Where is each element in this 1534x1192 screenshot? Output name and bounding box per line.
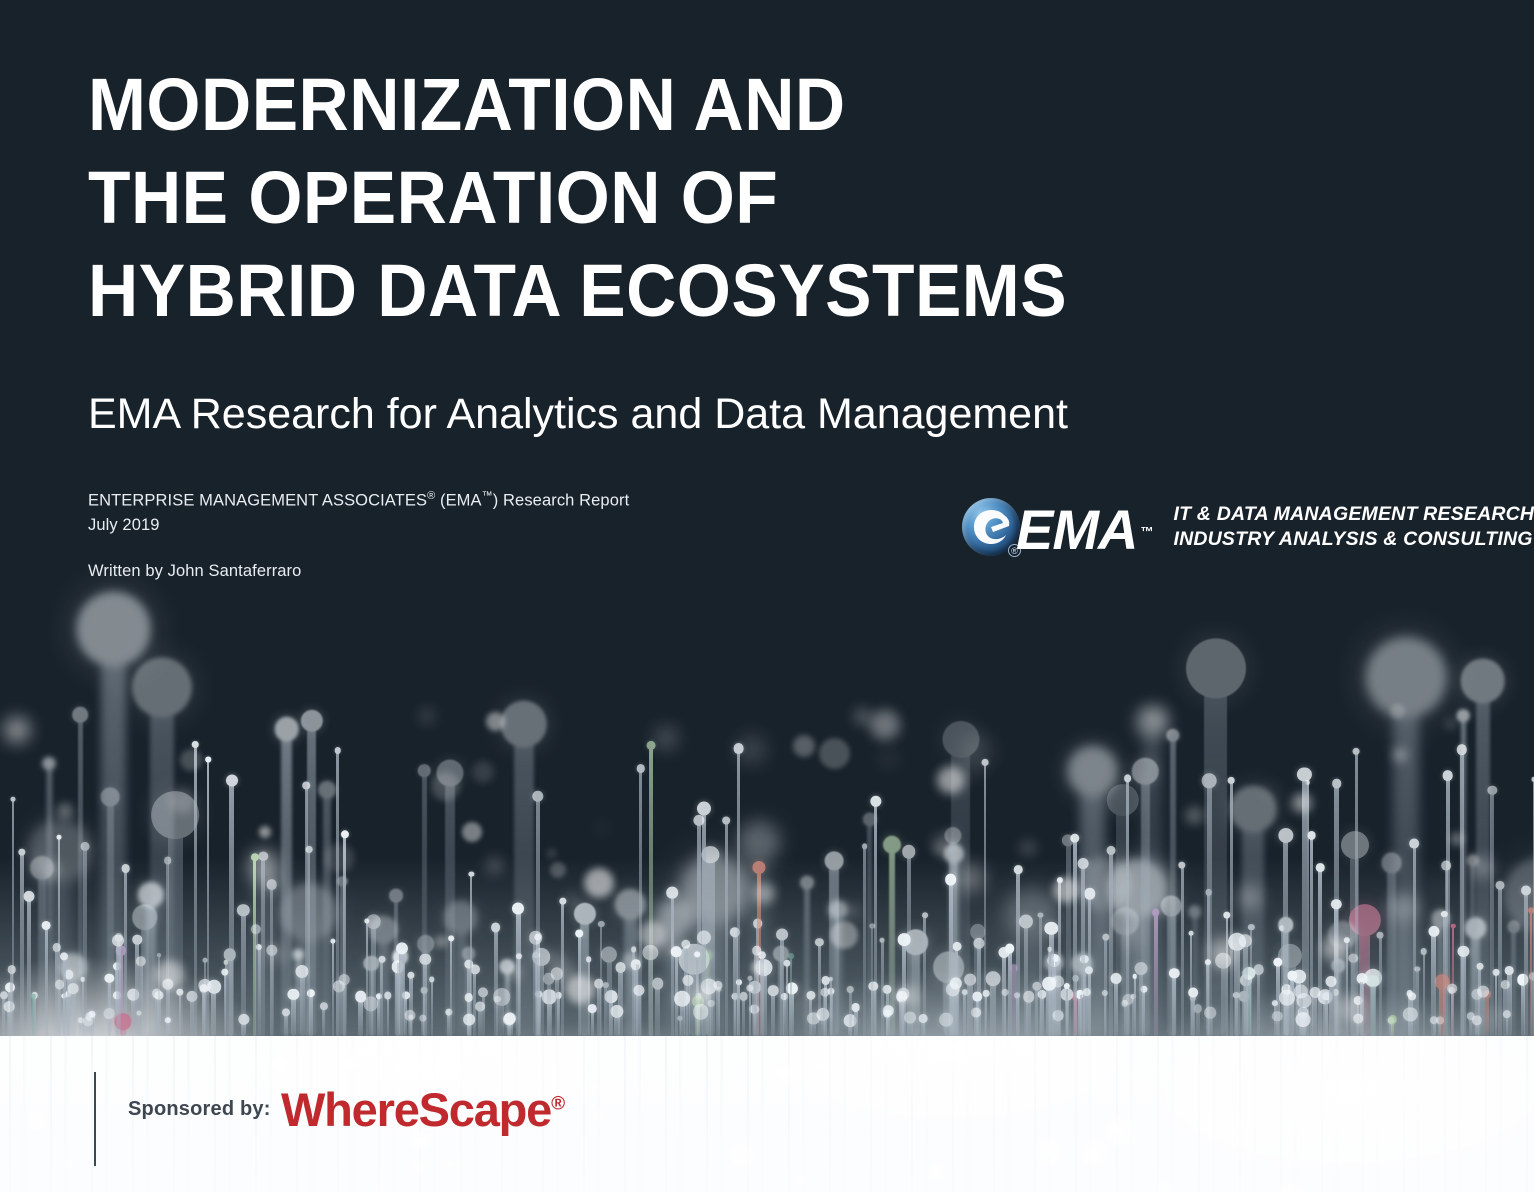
lollipop-bar bbox=[1423, 951, 1425, 1036]
lollipop-cap bbox=[1488, 786, 1497, 795]
lollipop-cap bbox=[788, 953, 794, 959]
lollipop-bar bbox=[63, 956, 66, 1036]
ema-tagline-line-2: INDUSTRY ANALYSIS & CONSULTING bbox=[1173, 527, 1534, 552]
lollipop-cap bbox=[341, 830, 349, 838]
lollipop-bar bbox=[58, 984, 61, 1036]
lollipop-bar bbox=[1046, 983, 1052, 1036]
lollipop-bar bbox=[387, 995, 390, 1036]
lollipop-cap bbox=[1077, 858, 1088, 869]
lollipop-cap bbox=[1441, 861, 1451, 871]
ema-tagline: IT & DATA MANAGEMENT RESEARCH, INDUSTRY … bbox=[1173, 502, 1534, 552]
lollipop-cap bbox=[1377, 932, 1384, 939]
ema-wordmark-text: EMA bbox=[1016, 498, 1137, 561]
lollipop-cap bbox=[1295, 1012, 1310, 1027]
sponsored-by-label: Sponsored by: bbox=[128, 1098, 271, 1121]
lollipop-cap bbox=[121, 864, 130, 873]
lollipop-cap bbox=[776, 929, 788, 941]
lollipop-cap bbox=[429, 976, 435, 982]
lollipop-cap bbox=[716, 987, 721, 992]
lollipop-bar bbox=[1451, 988, 1454, 1036]
lollipop-bar bbox=[754, 950, 759, 1036]
lollipop-bar bbox=[450, 938, 453, 1036]
lollipop-bar bbox=[1408, 1014, 1413, 1036]
lollipop-cap bbox=[463, 1014, 475, 1026]
lollipop-bar bbox=[771, 990, 775, 1036]
lollipop-cap bbox=[1442, 770, 1453, 781]
lollipop-bar bbox=[496, 999, 499, 1036]
lollipop-cap bbox=[237, 904, 249, 916]
lollipop-cap bbox=[1204, 1007, 1216, 1019]
lollipop-cap bbox=[806, 991, 815, 1000]
lollipop-bar bbox=[1276, 1016, 1279, 1036]
report-metadata: ENTERPRISE MANAGEMENT ASSOCIATES® (EMA™)… bbox=[88, 484, 629, 583]
lollipop-bar bbox=[1469, 1016, 1472, 1036]
lollipop-bar bbox=[1356, 1018, 1359, 1036]
lollipop-cap bbox=[945, 874, 957, 886]
lollipop-cap bbox=[999, 947, 1010, 958]
lollipop-cap bbox=[23, 891, 34, 902]
lollipop-cap bbox=[752, 946, 762, 956]
lollipop-cap bbox=[512, 902, 524, 914]
lollipop-bar bbox=[1439, 981, 1445, 1036]
lollipop-cap bbox=[1344, 937, 1350, 943]
lollipop-bar bbox=[1026, 996, 1031, 1036]
lollipop-bar bbox=[1346, 940, 1348, 1036]
lollipop-cap bbox=[396, 942, 408, 954]
lollipop-cap bbox=[1521, 885, 1531, 895]
lollipop-cap bbox=[1505, 966, 1514, 975]
lollipop-cap bbox=[60, 952, 68, 960]
lollipop-bar bbox=[1039, 915, 1041, 1036]
lollipop-bar bbox=[1318, 867, 1321, 1036]
lollipop-cap bbox=[1307, 831, 1316, 840]
lollipop-bar bbox=[907, 1017, 913, 1036]
publisher-suffix: ) Research Report bbox=[493, 492, 630, 510]
lollipop-cap bbox=[708, 1000, 715, 1007]
lollipop-cap bbox=[1202, 773, 1217, 788]
report-date: July 2019 bbox=[88, 513, 629, 537]
lollipop-bar bbox=[1284, 997, 1290, 1036]
lollipop-cap bbox=[543, 973, 555, 985]
lollipop-bar bbox=[86, 1021, 90, 1036]
lollipop-cap bbox=[469, 872, 474, 877]
lollipop-bar bbox=[591, 1008, 594, 1036]
lollipop-bar bbox=[1312, 992, 1317, 1036]
lollipop-bar bbox=[1334, 992, 1337, 1036]
lollipop-cap bbox=[952, 942, 961, 951]
lollipop-cap bbox=[1047, 947, 1052, 952]
lollipop-cap bbox=[601, 947, 617, 963]
lollipop-cap bbox=[42, 921, 51, 930]
lollipop-cap bbox=[419, 954, 430, 965]
lollipop-bar bbox=[1230, 780, 1233, 1036]
lollipop-cap bbox=[643, 945, 658, 960]
lollipop-cap bbox=[1014, 865, 1023, 874]
lollipop-bar bbox=[284, 1012, 288, 1036]
lollipop-cap bbox=[1228, 777, 1235, 784]
lollipop-cap bbox=[1316, 863, 1325, 872]
lollipop-cap bbox=[223, 960, 228, 965]
wherescape-name: WhereScape bbox=[281, 1083, 551, 1136]
lollipop-bar bbox=[1088, 970, 1091, 1036]
lollipop-bar bbox=[179, 992, 181, 1036]
lollipop-cap bbox=[157, 953, 161, 957]
lollipop-bar bbox=[158, 955, 160, 1036]
lollipop-cap bbox=[964, 974, 976, 986]
lollipop-bar bbox=[20, 852, 24, 1036]
ema-tagline-line-1: IT & DATA MANAGEMENT RESEARCH, bbox=[1173, 502, 1534, 527]
lollipop-cap bbox=[516, 953, 522, 959]
lollipop-cap bbox=[81, 842, 90, 851]
lollipop-bar bbox=[725, 820, 728, 1036]
lollipop-bar bbox=[399, 948, 405, 1036]
lollipop-bar bbox=[1208, 1012, 1213, 1036]
lollipop-bar bbox=[258, 947, 261, 1036]
lollipop-bar bbox=[10, 969, 13, 1036]
lollipop-bar bbox=[854, 1007, 858, 1036]
lollipop-cap bbox=[491, 922, 501, 932]
lollipop-cap bbox=[64, 970, 74, 980]
lollipop-bar bbox=[1172, 973, 1176, 1036]
publisher-prefix: ENTERPRISE MANAGEMENT ASSOCIATES bbox=[88, 492, 427, 510]
lollipop-cap bbox=[722, 816, 730, 824]
lollipop-bar bbox=[1495, 972, 1498, 1036]
lollipop-cap bbox=[8, 965, 17, 974]
lollipop-cap bbox=[384, 992, 392, 1000]
lollipop-cap bbox=[1248, 924, 1254, 930]
lollipop-bar bbox=[974, 1012, 977, 1036]
lollipop-bar bbox=[1329, 981, 1335, 1036]
lollipop-bar bbox=[166, 1020, 169, 1036]
lollipop-bar bbox=[811, 1018, 816, 1036]
lollipop-cap bbox=[1326, 976, 1337, 987]
lollipop-cap bbox=[205, 756, 211, 762]
lollipop-cap bbox=[667, 887, 679, 899]
lollipop-cap bbox=[983, 990, 990, 997]
lollipop-cap bbox=[897, 992, 907, 1002]
lollipop-cap bbox=[1353, 748, 1360, 755]
lollipop-bar bbox=[1080, 992, 1082, 1036]
lollipop-bar bbox=[655, 983, 660, 1036]
lollipop-bar bbox=[1134, 976, 1136, 1036]
lollipop-bar bbox=[881, 940, 883, 1036]
lollipop-cap bbox=[1353, 1014, 1363, 1024]
lollipop-bar bbox=[985, 993, 988, 1036]
lollipop-bar bbox=[194, 744, 197, 1036]
lollipop-cap bbox=[529, 931, 543, 945]
lollipop-bar bbox=[336, 986, 342, 1036]
lollipop-bar bbox=[1379, 935, 1382, 1036]
lollipop-bar bbox=[698, 1011, 703, 1036]
lollipop-cap bbox=[1045, 922, 1058, 935]
lollipop-cap bbox=[1428, 926, 1439, 937]
wherescape-sponsor-logo: WhereScape® bbox=[281, 1082, 565, 1137]
lollipop-bar bbox=[482, 992, 486, 1036]
lollipop-bar bbox=[32, 996, 34, 1036]
lollipop-cap bbox=[633, 985, 644, 996]
lollipop-cap bbox=[1409, 839, 1419, 849]
lollipop-bar bbox=[648, 952, 653, 1036]
lollipop-cap bbox=[982, 759, 989, 766]
lollipop-cap bbox=[821, 976, 830, 985]
lollipop-cap bbox=[1107, 846, 1116, 855]
lollipop-cap bbox=[973, 938, 984, 949]
document-cover-page: MODERNIZATION AND THE OPERATION OF HYBRI… bbox=[0, 0, 1534, 1192]
lollipop-bar bbox=[1124, 1003, 1126, 1036]
lollipop-bar bbox=[1413, 843, 1416, 1036]
lollipop-cap bbox=[748, 976, 753, 981]
lollipop-cap bbox=[1079, 990, 1084, 995]
lollipop-bar bbox=[1104, 993, 1107, 1036]
lollipop-cap bbox=[683, 975, 694, 986]
lollipop-bar bbox=[255, 929, 258, 1036]
title-line-3: HYBRID DATA ECOSYSTEMS bbox=[88, 244, 1141, 337]
lollipop-cap bbox=[478, 987, 488, 997]
lollipop-bar bbox=[507, 1019, 512, 1036]
page-title: MODERNIZATION AND THE OPERATION OF HYBRI… bbox=[88, 58, 1208, 337]
lollipop-cap bbox=[883, 985, 892, 994]
hero-dark-panel: MODERNIZATION AND THE OPERATION OF HYBRI… bbox=[0, 0, 1534, 1036]
lollipop-cap bbox=[739, 992, 748, 1001]
lollipop-cap bbox=[68, 983, 79, 994]
lollipop-cap bbox=[870, 796, 881, 807]
lollipop-cap bbox=[10, 797, 15, 802]
footer-divider-line bbox=[94, 1072, 96, 1166]
lollipop-cap bbox=[1292, 970, 1306, 984]
lollipop-cap bbox=[1457, 744, 1468, 755]
lollipop-cap bbox=[697, 931, 711, 945]
lollipop-cap bbox=[306, 846, 313, 853]
lollipop-bar bbox=[211, 986, 216, 1036]
lollipop-cap bbox=[883, 1010, 891, 1018]
lollipop-cap bbox=[1121, 1000, 1128, 1007]
lollipop-bar bbox=[270, 950, 274, 1036]
lollipop-bar bbox=[1475, 1020, 1480, 1036]
lollipop-bar bbox=[1234, 941, 1240, 1036]
lollipop-cap bbox=[165, 1017, 171, 1023]
lollipop-bar bbox=[410, 1017, 413, 1036]
lollipop-bar bbox=[900, 996, 904, 1036]
lollipop-bar bbox=[1109, 850, 1113, 1036]
lollipop-cap bbox=[1188, 988, 1198, 998]
lollipop-cap bbox=[1332, 779, 1342, 789]
lollipop-bar bbox=[2, 995, 5, 1036]
title-line-1: MODERNIZATION AND bbox=[88, 58, 1141, 151]
lollipop-bar bbox=[718, 989, 721, 1036]
lollipop-cap bbox=[671, 946, 682, 957]
lollipop-bar bbox=[1243, 940, 1248, 1036]
lollipop-cap bbox=[1451, 924, 1455, 928]
trademark-mark: ™ bbox=[482, 490, 493, 502]
lollipop-bar bbox=[823, 992, 826, 1036]
lollipop-cap bbox=[694, 951, 700, 957]
lollipop-bar bbox=[202, 985, 208, 1036]
lollipop-cap bbox=[112, 935, 124, 947]
lollipop-bar bbox=[1481, 991, 1485, 1036]
lollipop-cap bbox=[851, 1003, 860, 1012]
lollipop-cap bbox=[636, 764, 645, 773]
lollipop-cap bbox=[464, 993, 473, 1002]
lollipop-bar bbox=[431, 979, 434, 1036]
lollipop-cap bbox=[378, 956, 385, 963]
lollipop-cap bbox=[202, 958, 207, 963]
lollipop-cap bbox=[1169, 968, 1179, 978]
lollipop-cap bbox=[1501, 980, 1510, 989]
lollipop-cap bbox=[1420, 948, 1427, 955]
lollipop-bar bbox=[1490, 790, 1494, 1036]
lollipop-cap bbox=[1448, 984, 1458, 994]
lollipop-cap bbox=[768, 985, 779, 996]
lollipop-bar bbox=[950, 989, 955, 1036]
lollipop-cap bbox=[1278, 828, 1293, 843]
lollipop-cap bbox=[266, 879, 277, 890]
lollipop-cap bbox=[598, 921, 604, 927]
lollipop-cap bbox=[646, 741, 655, 750]
lollipop-cap bbox=[0, 991, 8, 999]
ema-trademark: ™ bbox=[1140, 506, 1152, 558]
lollipop-cap bbox=[1188, 931, 1193, 936]
lollipop-bar bbox=[849, 989, 852, 1036]
lollipop-bar bbox=[1066, 986, 1068, 1036]
lollipop-cap bbox=[503, 1014, 515, 1026]
lollipop-bar bbox=[1055, 981, 1061, 1036]
lollipop-bar bbox=[742, 996, 745, 1036]
lollipop-bar bbox=[421, 1018, 424, 1036]
lollipop-bar bbox=[671, 892, 675, 1036]
lollipop-cap bbox=[985, 971, 1000, 986]
ema-swirl-glyph bbox=[971, 506, 1011, 548]
lollipop-bar bbox=[749, 988, 751, 1036]
lollipop-bar bbox=[120, 1021, 125, 1036]
lollipop-cap bbox=[631, 946, 637, 952]
lollipop-cap bbox=[162, 979, 173, 990]
lollipop-cap bbox=[1178, 862, 1185, 869]
lollipop-bar bbox=[1257, 969, 1261, 1036]
lollipop-cap bbox=[1279, 990, 1295, 1006]
lollipop-cap bbox=[31, 994, 36, 999]
lollipop-cap bbox=[1023, 991, 1035, 1003]
lollipop-cap bbox=[922, 912, 928, 918]
lollipop-cap bbox=[1038, 913, 1043, 918]
lollipop-cap bbox=[615, 962, 626, 973]
lollipop-cap bbox=[1133, 974, 1138, 979]
lollipop-cap bbox=[1056, 877, 1062, 883]
lollipop-cap bbox=[652, 978, 664, 990]
lollipop-bar bbox=[1416, 969, 1418, 1036]
lollipop-bar bbox=[1360, 980, 1363, 1036]
lollipop-cap bbox=[919, 1014, 928, 1023]
lollipop-cap bbox=[733, 743, 744, 754]
lollipop-bar bbox=[224, 972, 226, 1036]
page-subtitle: EMA Research for Analytics and Data Mana… bbox=[88, 386, 1068, 442]
lollipop-bar bbox=[963, 992, 966, 1036]
lollipop-cap bbox=[475, 1001, 485, 1011]
lollipop-cap bbox=[973, 992, 983, 1002]
lollipop-cap bbox=[221, 969, 228, 976]
lollipop-cap bbox=[1085, 966, 1093, 974]
lollipop-bar bbox=[1325, 996, 1328, 1036]
lollipop-cap bbox=[697, 802, 711, 816]
lollipop-cap bbox=[1477, 986, 1489, 998]
data-visualization-graphic bbox=[0, 566, 1534, 1036]
lollipop-bar bbox=[116, 940, 120, 1036]
lollipop-cap bbox=[681, 940, 690, 949]
lollipop-cap bbox=[104, 1008, 115, 1019]
lollipop-bar bbox=[291, 994, 296, 1036]
lollipop-cap bbox=[52, 943, 61, 952]
lollipop-bar bbox=[786, 963, 789, 1036]
lollipop-cap bbox=[904, 1012, 916, 1024]
lollipop-bar bbox=[967, 979, 973, 1036]
lollipop-bar bbox=[1300, 1019, 1306, 1036]
lollipop-cap bbox=[1388, 1015, 1397, 1024]
lollipop-cap bbox=[251, 924, 261, 934]
lollipop-cap bbox=[136, 956, 146, 966]
lollipop-cap bbox=[1152, 909, 1160, 917]
lollipop-bar bbox=[863, 846, 866, 1036]
lollipop-bar bbox=[1004, 992, 1006, 1036]
lollipop-bar bbox=[467, 1019, 471, 1036]
lollipop-bar bbox=[588, 959, 591, 1036]
ema-logo: ® EMA™ bbox=[962, 498, 1137, 556]
lollipop-bar bbox=[921, 1018, 925, 1036]
lollipop-bar bbox=[229, 780, 233, 1036]
lollipop-cap bbox=[532, 791, 543, 802]
lollipop-cap bbox=[57, 835, 62, 840]
lollipop-bar bbox=[45, 925, 48, 1036]
lollipop-cap bbox=[364, 919, 369, 924]
lollipop-bar bbox=[358, 996, 363, 1036]
lollipop-cap bbox=[1476, 963, 1483, 970]
lollipop-cap bbox=[18, 849, 25, 856]
publisher-line: ENTERPRISE MANAGEMENT ASSOCIATES® (EMA™)… bbox=[88, 484, 629, 513]
lollipop-bars-foreground bbox=[0, 566, 1534, 1036]
lollipop-bar bbox=[578, 933, 581, 1036]
lollipop-cap bbox=[693, 1004, 709, 1020]
lollipop-bar bbox=[636, 990, 641, 1036]
lollipop-bar bbox=[368, 1003, 373, 1036]
lollipop-cap bbox=[1084, 888, 1096, 900]
lollipop-bar bbox=[886, 1013, 889, 1036]
lollipop-cap bbox=[226, 774, 238, 786]
lollipop-bar bbox=[1355, 751, 1358, 1036]
lollipop-bar bbox=[1226, 915, 1228, 1036]
lollipop-bar bbox=[614, 1011, 619, 1036]
lollipop-cap bbox=[192, 741, 199, 748]
lollipop-bar bbox=[1290, 975, 1294, 1036]
lollipop-cap bbox=[1019, 915, 1033, 929]
lollipop-bar bbox=[686, 980, 690, 1036]
lollipop-cap bbox=[1331, 899, 1341, 909]
lollipop-cap bbox=[902, 845, 916, 859]
lollipop-cap bbox=[820, 988, 829, 997]
lollipop-cap bbox=[238, 1014, 249, 1025]
lollipop-bar bbox=[300, 971, 305, 1036]
lollipop-bar bbox=[1016, 869, 1020, 1036]
lollipop-bar bbox=[1191, 992, 1195, 1036]
lollipop-cap bbox=[575, 930, 583, 938]
lollipop-bar bbox=[1154, 912, 1158, 1036]
lollipop-bar bbox=[1114, 978, 1118, 1036]
lollipop-cap bbox=[1110, 973, 1121, 984]
lollipop-cap bbox=[334, 747, 341, 754]
lollipop-cap bbox=[363, 996, 378, 1011]
lollipop-cap bbox=[251, 853, 259, 861]
lollipop-cap bbox=[55, 979, 65, 989]
lollipop-bar bbox=[760, 955, 764, 1036]
lollipop-cap bbox=[753, 861, 766, 874]
lollipop-cap bbox=[176, 989, 183, 996]
